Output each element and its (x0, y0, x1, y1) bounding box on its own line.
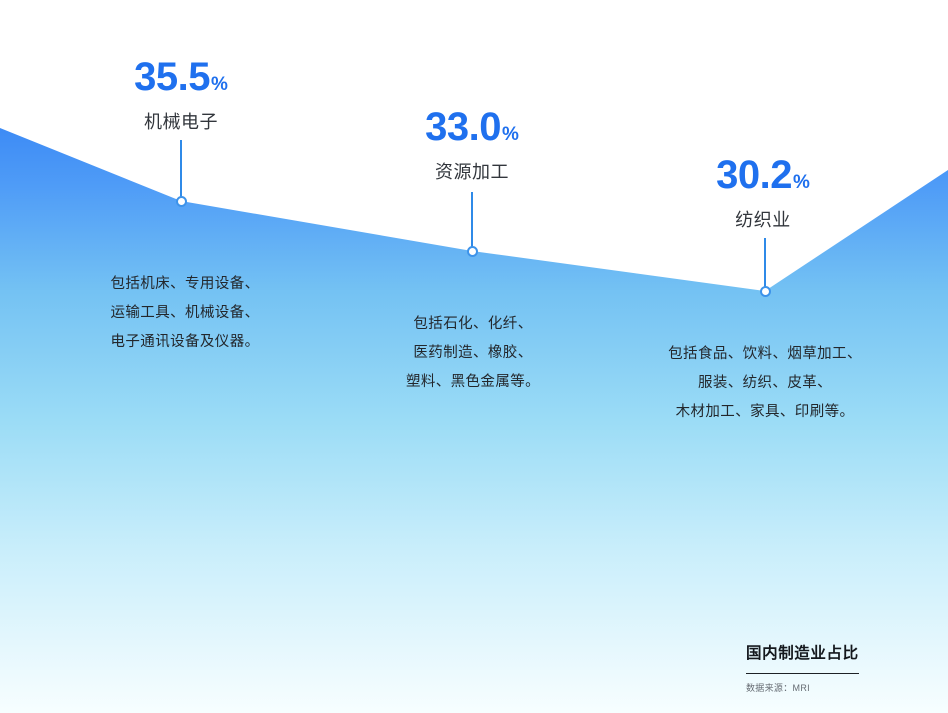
data-source-value: MRI (793, 683, 810, 693)
description-line: 塑料、黑色金属等。 (386, 368, 560, 397)
data-point-marker-3[interactable] (760, 286, 771, 297)
connector-line-2 (471, 192, 473, 251)
footer: 国内制造业占比 数据来源：MRI (746, 645, 906, 694)
callout-label: 机械电子 (81, 108, 281, 134)
callout-label: 资源加工 (372, 158, 572, 184)
data-source: 数据来源：MRI (746, 681, 906, 694)
connector-line-1 (180, 140, 182, 201)
description-resource-processing: 包括石化、化纤、 医药制造、橡胶、 塑料、黑色金属等。 (386, 310, 560, 397)
data-source-label: 数据来源： (746, 683, 793, 693)
callout-value: 30.2% (663, 155, 863, 195)
percent-sign: % (793, 172, 810, 193)
callout-value: 35.5% (81, 57, 281, 97)
description-line: 运输工具、机械设备、 (82, 299, 288, 328)
description-mechanical-electronics: 包括机床、专用设备、 运输工具、机械设备、 电子通讯设备及仪器。 (82, 270, 288, 357)
description-line: 医药制造、橡胶、 (386, 339, 560, 368)
callout-label: 纺织业 (663, 206, 863, 232)
description-line: 电子通讯设备及仪器。 (82, 328, 288, 357)
callout-value-number: 33.0 (425, 105, 501, 149)
description-line: 服装、纺织、皮革、 (648, 369, 882, 398)
callout-textile-industry: 30.2% 纺织业 (663, 155, 863, 232)
percent-sign: % (502, 124, 519, 145)
connector-line-3 (764, 238, 766, 291)
description-line: 包括食品、饮料、烟草加工、 (648, 340, 882, 369)
infographic-canvas: 35.5% 机械电子 33.0% 资源加工 30.2% 纺织业 包括机床、专用设… (0, 0, 948, 713)
description-textile-industry: 包括食品、饮料、烟草加工、 服装、纺织、皮革、 木材加工、家具、印刷等。 (648, 340, 882, 427)
description-line: 木材加工、家具、印刷等。 (648, 398, 882, 427)
callout-mechanical-electronics: 35.5% 机械电子 (81, 57, 281, 134)
callout-resource-processing: 33.0% 资源加工 (372, 107, 572, 184)
description-line: 包括机床、专用设备、 (82, 270, 288, 299)
callout-value: 33.0% (372, 107, 572, 147)
data-point-marker-1[interactable] (176, 196, 187, 207)
data-point-marker-2[interactable] (467, 246, 478, 257)
callout-value-number: 35.5 (134, 55, 210, 99)
description-line: 包括石化、化纤、 (386, 310, 560, 339)
chart-title: 国内制造业占比 (746, 645, 906, 664)
footer-divider (746, 673, 859, 675)
callout-value-number: 30.2 (716, 153, 792, 197)
percent-sign: % (211, 74, 228, 95)
